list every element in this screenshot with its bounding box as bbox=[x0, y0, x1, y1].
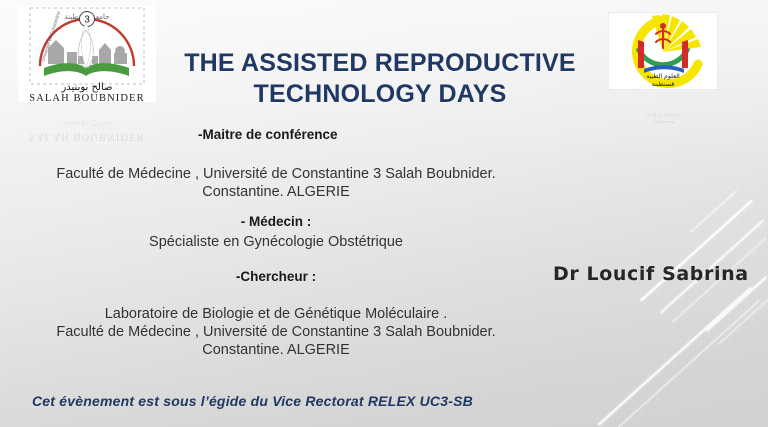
university-logo-left-icon: جامعة قسنطينة Université de Constantine … bbox=[14, 4, 160, 104]
medical-society-logo-right-reflection-icon: العلوم الطبية قسنطينة bbox=[608, 90, 718, 124]
university-logo-left: جامعة قسنطينة Université de Constantine … bbox=[14, 4, 160, 104]
svg-text:صالح بوبنيدر: صالح بوبنيدر bbox=[60, 82, 112, 93]
light-streak-7 bbox=[718, 297, 768, 345]
presentation-slide: جامعة قسنطينة Université de Constantine … bbox=[0, 0, 768, 427]
affiliation-1-line-2: Constantine. ALGERIE bbox=[34, 184, 518, 200]
affiliation-2-line-3: Constantine. ALGERIE bbox=[34, 342, 518, 358]
svg-text:SALAH BOUBNIDER: SALAH BOUBNIDER bbox=[29, 131, 144, 142]
light-streak-1 bbox=[640, 200, 753, 302]
svg-text:صالح بوبنيدر: صالح بوبنيدر bbox=[60, 119, 112, 130]
role-chercheur: -Chercheur : bbox=[34, 269, 518, 284]
affiliation-2-line-2: Faculté de Médecine , Université de Cons… bbox=[34, 324, 518, 340]
university-logo-left-reflection: SALAH BOUBNIDER صالح بوبنيدر bbox=[14, 104, 160, 146]
svg-text:قسنطينة: قسنطينة bbox=[652, 119, 675, 124]
role-medecin: - Médecin : bbox=[34, 214, 518, 229]
svg-text:العلوم الطبية: العلوم الطبية bbox=[646, 73, 680, 80]
slide-title: THE ASSISTED REPRODUCTIVE TECHNOLOGY DAY… bbox=[182, 48, 578, 110]
svg-text:SALAH BOUBNIDER: SALAH BOUBNIDER bbox=[29, 93, 144, 104]
slide-title-line-1: THE ASSISTED REPRODUCTIVE bbox=[182, 48, 578, 79]
medical-society-logo-right-reflection: العلوم الطبية قسنطينة bbox=[608, 90, 718, 124]
light-streak-5 bbox=[618, 300, 760, 427]
role-maitre-de-conference: -Maitre de conférence bbox=[198, 127, 338, 142]
role-medecin-detail: Spécialiste en Gynécologie Obstétrique bbox=[34, 234, 518, 250]
medical-society-logo-right: العلوم الطبية قسنطينة bbox=[608, 12, 718, 90]
light-streak-8 bbox=[690, 191, 737, 234]
affiliation-2-line-1: Laboratoire de Biologie et de Génétique … bbox=[34, 306, 518, 322]
university-logo-left-reflection-icon: SALAH BOUBNIDER صالح بوبنيدر bbox=[14, 104, 160, 146]
affiliation-1-line-1: Faculté de Médecine , Université de Cons… bbox=[34, 166, 518, 182]
svg-text:قسنطينة: قسنطينة bbox=[652, 81, 675, 88]
light-streak-4 bbox=[598, 287, 752, 426]
speaker-name: Dr Loucif Sabrina bbox=[553, 263, 749, 285]
slide-title-line-2: TECHNOLOGY DAYS bbox=[182, 79, 578, 110]
svg-text:العلوم الطبية: العلوم الطبية bbox=[646, 112, 680, 119]
medical-society-logo-right-icon: العلوم الطبية قسنطينة bbox=[608, 12, 718, 90]
footer-patronage-note: Cet évènement est sous l’égide du Vice R… bbox=[32, 393, 473, 409]
